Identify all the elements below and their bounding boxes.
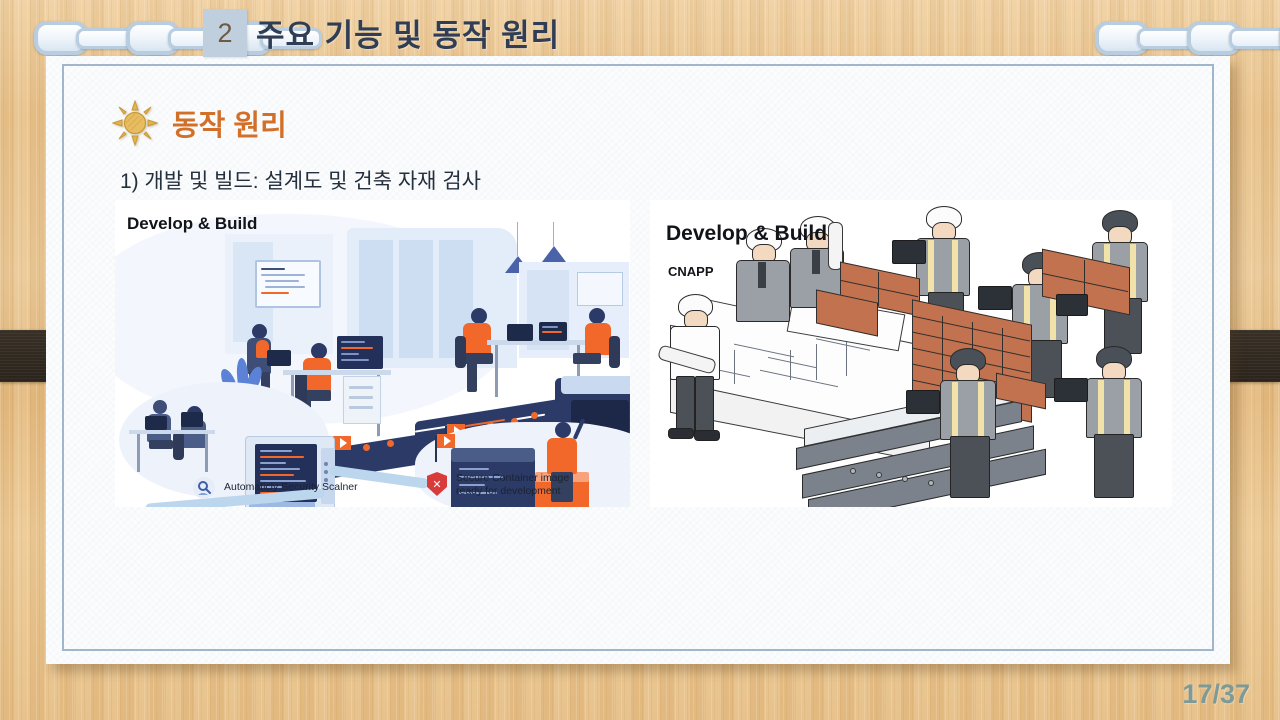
- page-number: 17/37: [1182, 679, 1250, 710]
- right-figure-title: Develop & Build: [666, 222, 827, 246]
- section-heading-label: 동작 원리: [172, 102, 287, 144]
- left-figure-caption-2-line-1: Secure Container image: [456, 472, 569, 484]
- right-figure-subtitle: CNAPP: [668, 264, 714, 279]
- left-figure-caption-1: Automaticly Security Scalner: [224, 481, 358, 494]
- section-number-badge: 2: [203, 9, 247, 57]
- bullet-item-1: 1) 개발 및 빌드: 설계도 및 건축 자재 검사: [120, 165, 481, 195]
- left-figure-caption-2: Secure Container image ready for develop…: [456, 472, 569, 498]
- section-heading: 동작 원리: [112, 100, 287, 146]
- left-figure-caption-2-line-2: ready for development: [456, 485, 560, 497]
- left-figure-title: Develop & Build: [127, 214, 257, 234]
- slide-header: [0, 0, 1280, 56]
- left-illustration-develop-build: Develop & Build: [115, 200, 630, 507]
- right-illustration-cnapp: Develop & Build CNAPP: [650, 200, 1172, 507]
- sun-icon: [112, 100, 158, 146]
- chain-links-icon-right: [1095, 23, 1280, 53]
- security-scanner-icon: [193, 477, 215, 499]
- shield-x-icon: ✕: [427, 472, 447, 496]
- page-title: 주요 기능 및 동작 원리: [256, 10, 560, 55]
